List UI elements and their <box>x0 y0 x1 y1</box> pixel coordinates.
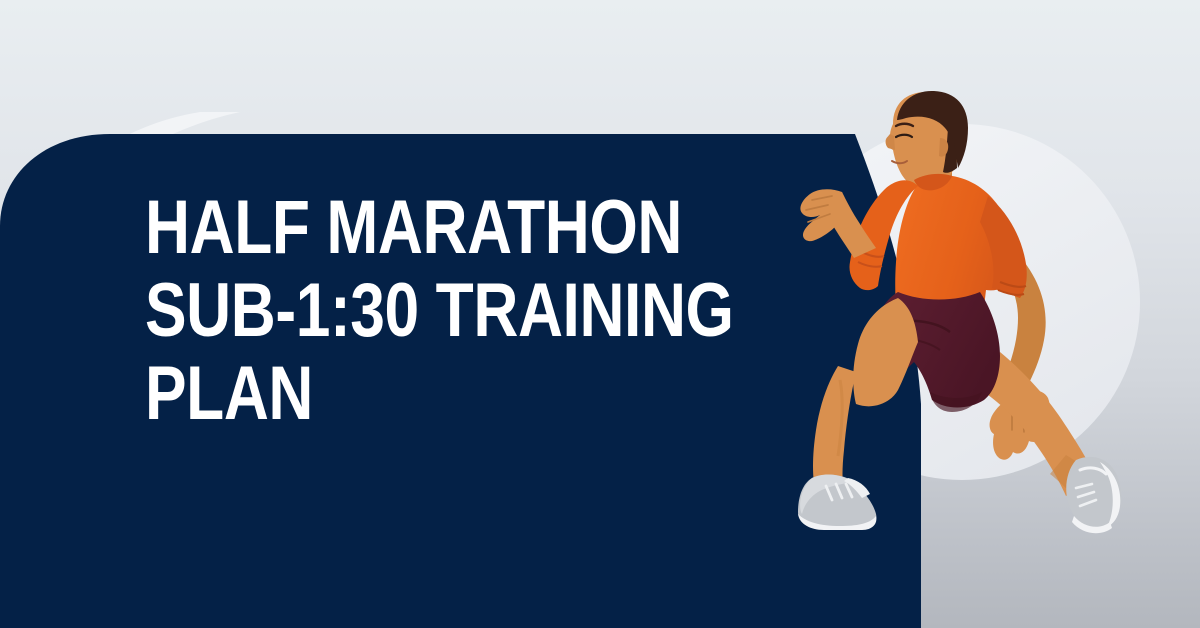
page-title: HALF MARATHON SUB-1:30 TRAINING PLAN <box>145 186 765 435</box>
title-line-2: SUB-1:30 TRAINING <box>145 269 653 352</box>
title-line-1: HALF MARATHON <box>145 186 653 269</box>
title-line-3: PLAN <box>145 352 653 435</box>
training-plan-banner: HALF MARATHON SUB-1:30 TRAINING PLAN <box>0 0 1200 628</box>
